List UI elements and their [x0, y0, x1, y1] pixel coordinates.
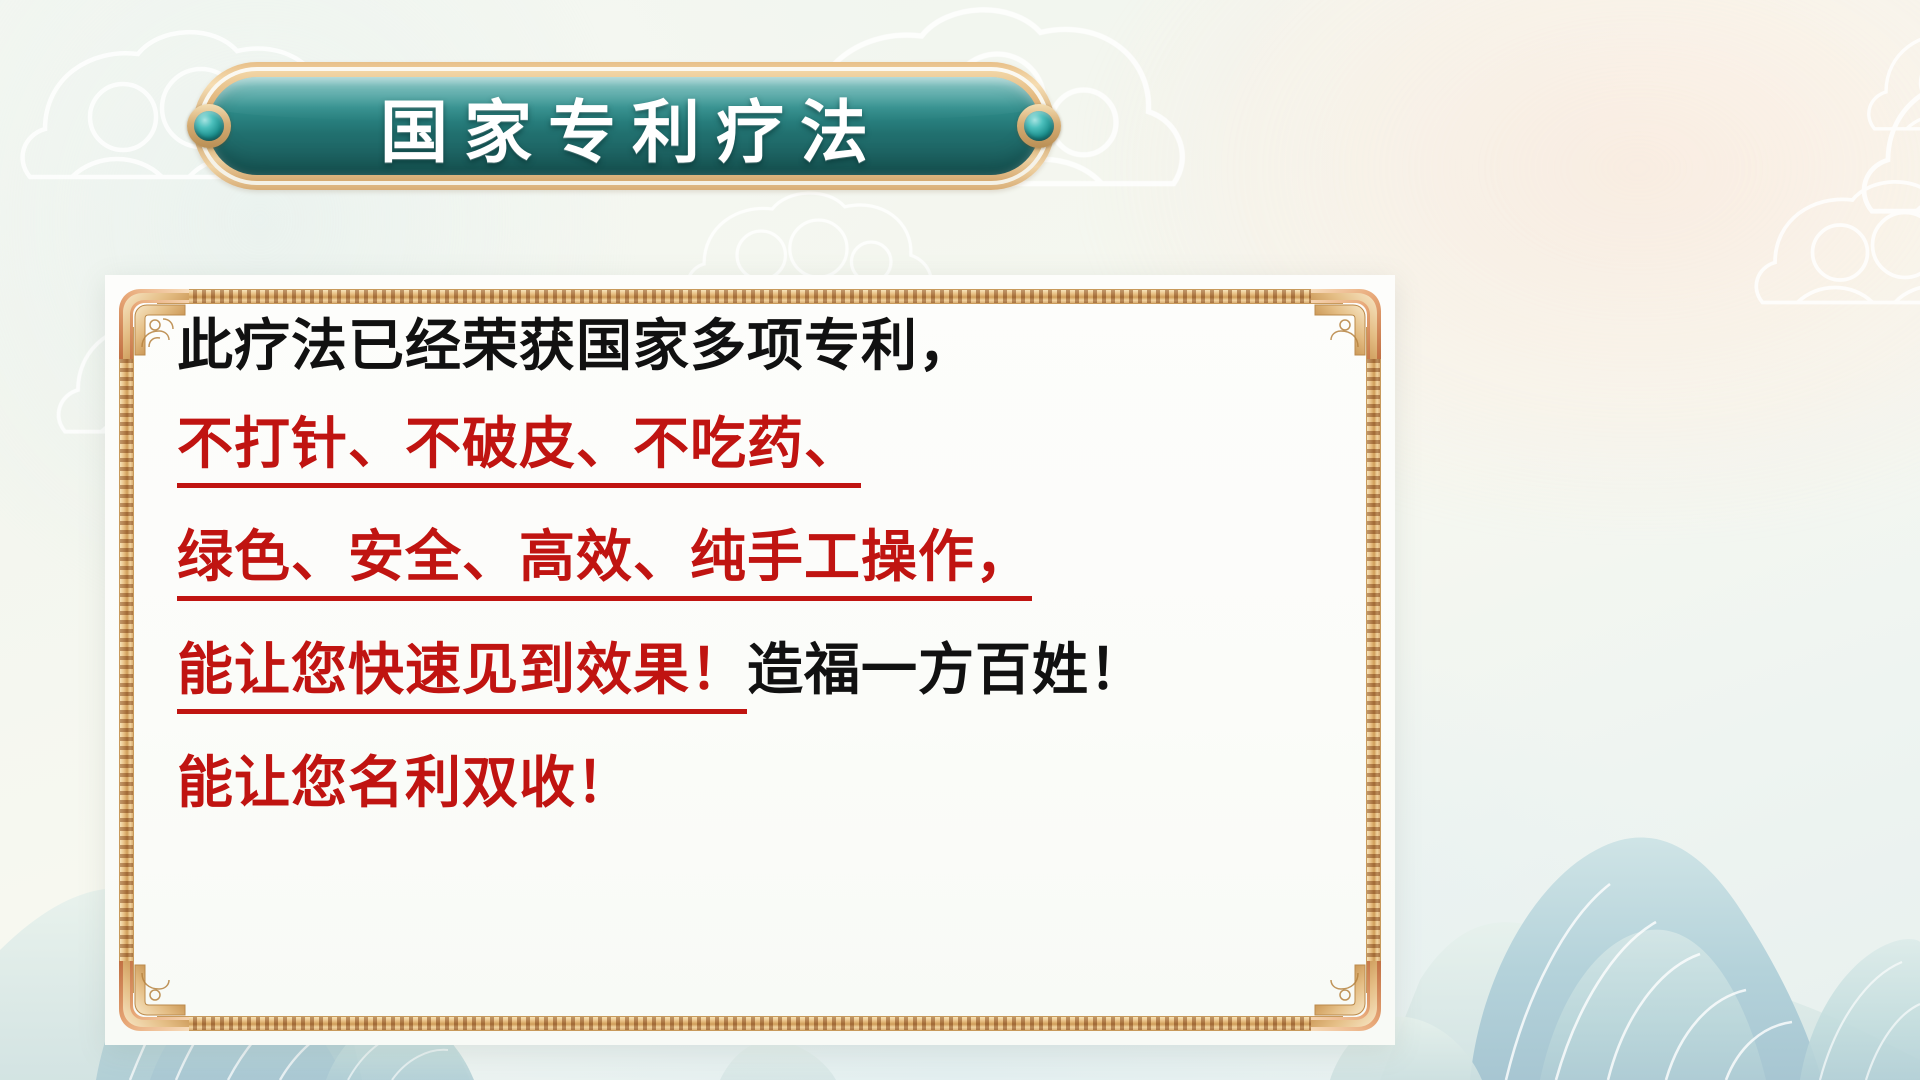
banner-title-text: 国家专利疗法: [208, 77, 1040, 175]
text-segment: 绿色、安全、高效、纯手工操作，: [177, 530, 1032, 601]
text-segment: 能让您名利双收！: [177, 756, 633, 812]
text-segment: 不打针、不破皮、不吃药、: [177, 417, 861, 488]
content-card: 此疗法已经荣获国家多项专利， 不打针、不破皮、不吃药、 绿色、安全、高效、纯手工…: [105, 275, 1395, 1045]
text-line: 能让您快速见到效果！造福一方百姓！: [177, 643, 1337, 714]
corner-ornament-bottom-left-icon: [115, 961, 189, 1035]
frame-rail-top: [157, 289, 1343, 304]
text-line: 不打针、不破皮、不吃药、: [177, 417, 1337, 488]
text-segment: 此疗法已经荣获国家多项专利，: [177, 319, 975, 375]
frame-rail-left: [119, 327, 134, 993]
benefit-text-block: 此疗法已经荣获国家多项专利， 不打针、不破皮、不吃药、 绿色、安全、高效、纯手工…: [177, 319, 1337, 812]
text-segment: 能让您快速见到效果！: [177, 643, 747, 714]
text-line: 能让您名利双收！: [177, 756, 1337, 812]
frame-rail-bottom: [157, 1016, 1343, 1031]
text-segment: 造福一方百姓！: [747, 643, 1146, 699]
text-line: 此疗法已经荣获国家多项专利，: [177, 319, 1337, 375]
title-banner: 国家专利疗法: [193, 62, 1055, 190]
frame-rail-right: [1366, 327, 1381, 993]
text-line: 绿色、安全、高效、纯手工操作，: [177, 530, 1337, 601]
slide-stage: 国家专利疗法: [0, 0, 1920, 1080]
corner-ornament-bottom-right-icon: [1311, 961, 1385, 1035]
